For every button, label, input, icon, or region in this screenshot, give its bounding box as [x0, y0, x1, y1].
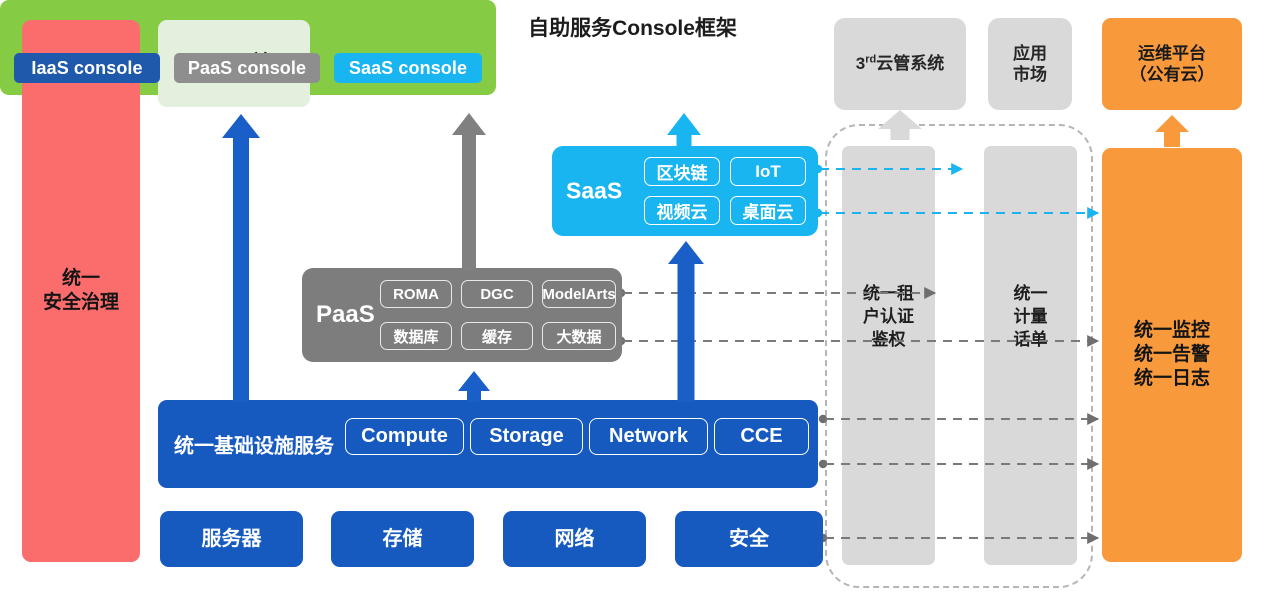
- app-market-box[interactable]: 应用 市场: [988, 18, 1072, 110]
- infra-item-network[interactable]: Network: [589, 418, 708, 455]
- hardware-item-server[interactable]: 服务器: [160, 511, 303, 567]
- third-party-label: 3rd云管系统: [856, 53, 944, 74]
- hardware-item-storage[interactable]: 存储: [331, 511, 474, 567]
- unified-monitoring-panel[interactable]: 统一监控 统一告警 统一日志: [1102, 148, 1242, 562]
- arrow-shared-to-third-party: [878, 110, 922, 140]
- infra-item-cce[interactable]: CCE: [714, 418, 809, 455]
- middleware-column-metering: [984, 146, 1077, 565]
- paas-block[interactable]: PaaS ROMA DGC ModelArts 数据库 缓存 大数据: [302, 268, 622, 362]
- arrow-infra-to-saas: [668, 241, 704, 402]
- infra-bar-label: 统一基础设施服务: [174, 430, 334, 459]
- arrow-paas-to-console: [452, 113, 486, 271]
- console-frame-title: 自助服务Console框架: [0, 12, 1265, 42]
- paas-console-chip[interactable]: PaaS console: [174, 53, 320, 83]
- hardware-item-network[interactable]: 网络: [503, 511, 646, 567]
- paas-item-bigdata[interactable]: 大数据: [542, 322, 616, 350]
- arrow-saas-to-console: [667, 113, 701, 149]
- saas-block-label: SaaS: [566, 178, 622, 205]
- saas-block[interactable]: SaaS 区块链 IoT 视频云 桌面云: [552, 146, 818, 236]
- arrow-monitoring-to-ops-platform: [1155, 115, 1189, 147]
- ops-platform-box[interactable]: 运维平台 （公有云）: [1102, 18, 1242, 110]
- middleware-column-auth: [842, 146, 935, 565]
- unified-security-governance-panel[interactable]: 统一 安全治理: [22, 20, 140, 562]
- paas-item-roma[interactable]: ROMA: [380, 280, 452, 308]
- middleware-label-auth: 统一租 户认证 鉴权: [842, 283, 935, 352]
- saas-item-blockchain[interactable]: 区块链: [644, 157, 720, 186]
- paas-block-label: PaaS: [316, 301, 375, 329]
- saas-item-video-cloud[interactable]: 视频云: [644, 196, 720, 225]
- saas-item-iot[interactable]: IoT: [730, 157, 806, 186]
- infra-item-compute[interactable]: Compute: [345, 418, 464, 455]
- iaas-console-chip[interactable]: IaaS console: [14, 53, 160, 83]
- hardware-item-security[interactable]: 安全: [675, 511, 823, 567]
- infra-item-storage[interactable]: Storage: [470, 418, 583, 455]
- paas-item-modelarts[interactable]: ModelArts: [542, 280, 616, 308]
- architecture-diagram: 统一租 户认证 鉴权 统一 计量 话单: [0, 0, 1265, 605]
- middleware-label-metering: 统一 计量 话单: [984, 283, 1077, 352]
- paas-item-cache[interactable]: 缓存: [461, 322, 533, 350]
- third-party-cloud-management-box[interactable]: 3rd云管系统: [834, 18, 966, 110]
- saas-console-chip[interactable]: SaaS console: [334, 53, 482, 83]
- paas-item-database[interactable]: 数据库: [380, 322, 452, 350]
- arrow-infra-to-paas: [458, 371, 490, 402]
- unified-infrastructure-service-bar[interactable]: 统一基础设施服务 Compute Storage Network CCE: [158, 400, 818, 488]
- arrow-infra-to-api-gateway: [222, 114, 260, 402]
- paas-item-dgc[interactable]: DGC: [461, 280, 533, 308]
- saas-item-desktop-cloud[interactable]: 桌面云: [730, 196, 806, 225]
